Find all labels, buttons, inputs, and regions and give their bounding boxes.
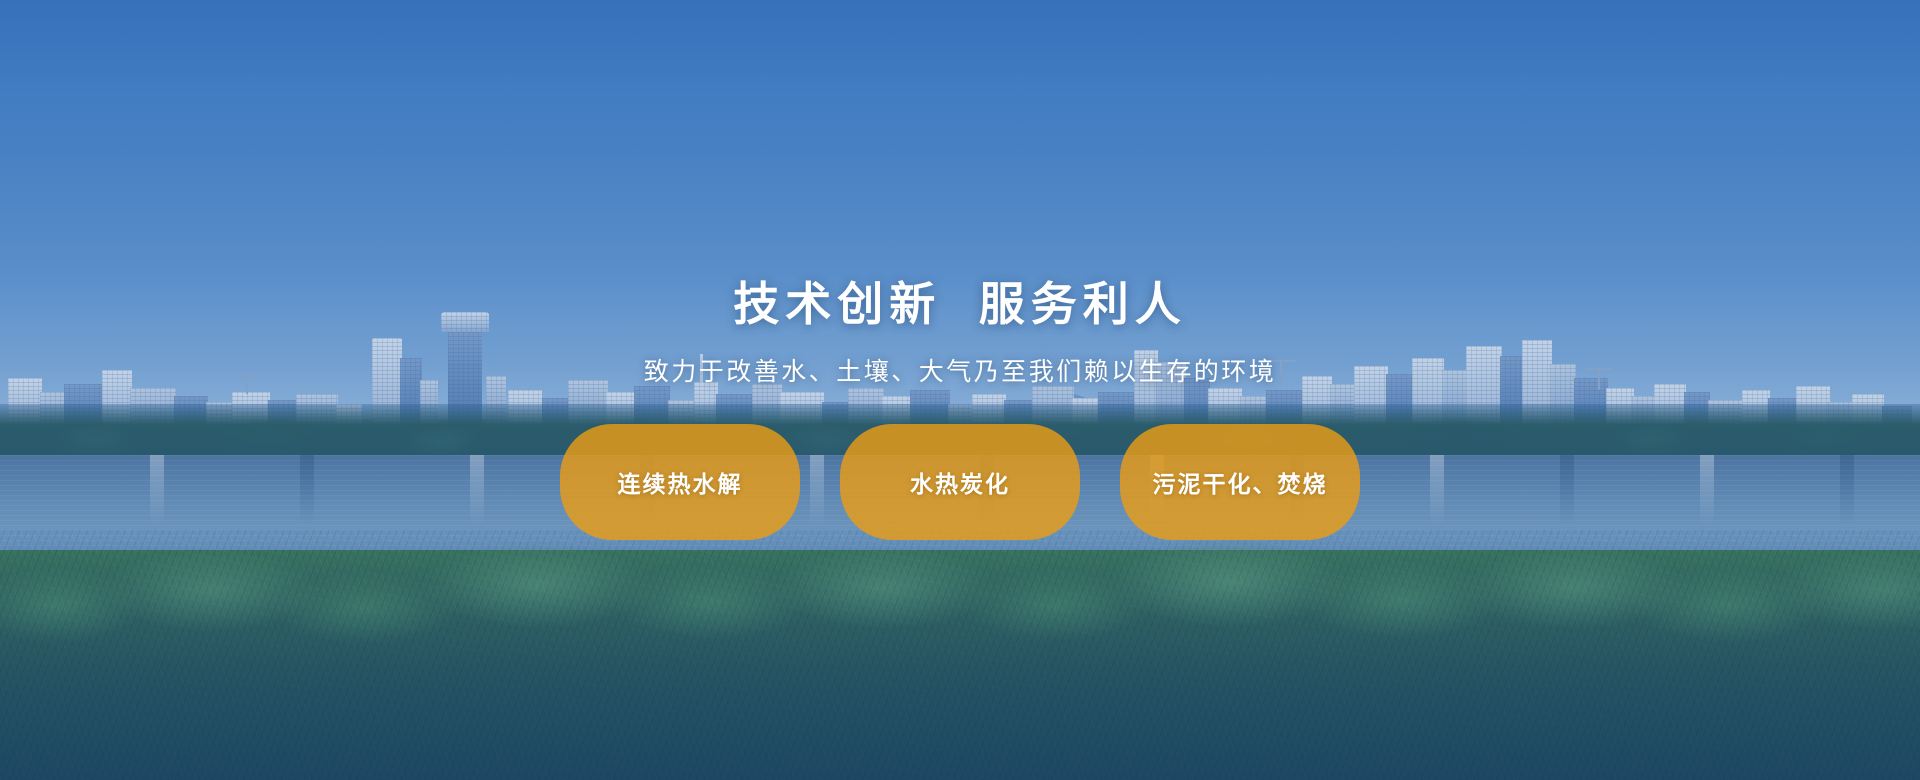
service-pill-carbonization[interactable]: 水热炭化 [840,424,1080,540]
page-subtitle: 致力于改善水、土壤、大气乃至我们赖以生存的环境 [644,352,1277,388]
service-pill-label: 水热炭化 [910,465,1010,499]
service-pill-label: 连续热水解 [618,465,743,499]
page-title: 技术创新 服务利人 [733,268,1187,334]
hero-banner: 技术创新 服务利人 致力于改善水、土壤、大气乃至我们赖以生存的环境 连续热水解 … [0,0,1920,780]
service-pill-label: 污泥干化、焚烧 [1153,465,1328,499]
service-pill-hydrolysis[interactable]: 连续热水解 [560,424,800,540]
service-pill-sludge-drying[interactable]: 污泥干化、焚烧 [1120,424,1360,540]
hero-content: 技术创新 服务利人 致力于改善水、土壤、大气乃至我们赖以生存的环境 连续热水解 … [0,0,1920,780]
service-pill-group: 连续热水解 水热炭化 污泥干化、焚烧 [560,424,1360,540]
